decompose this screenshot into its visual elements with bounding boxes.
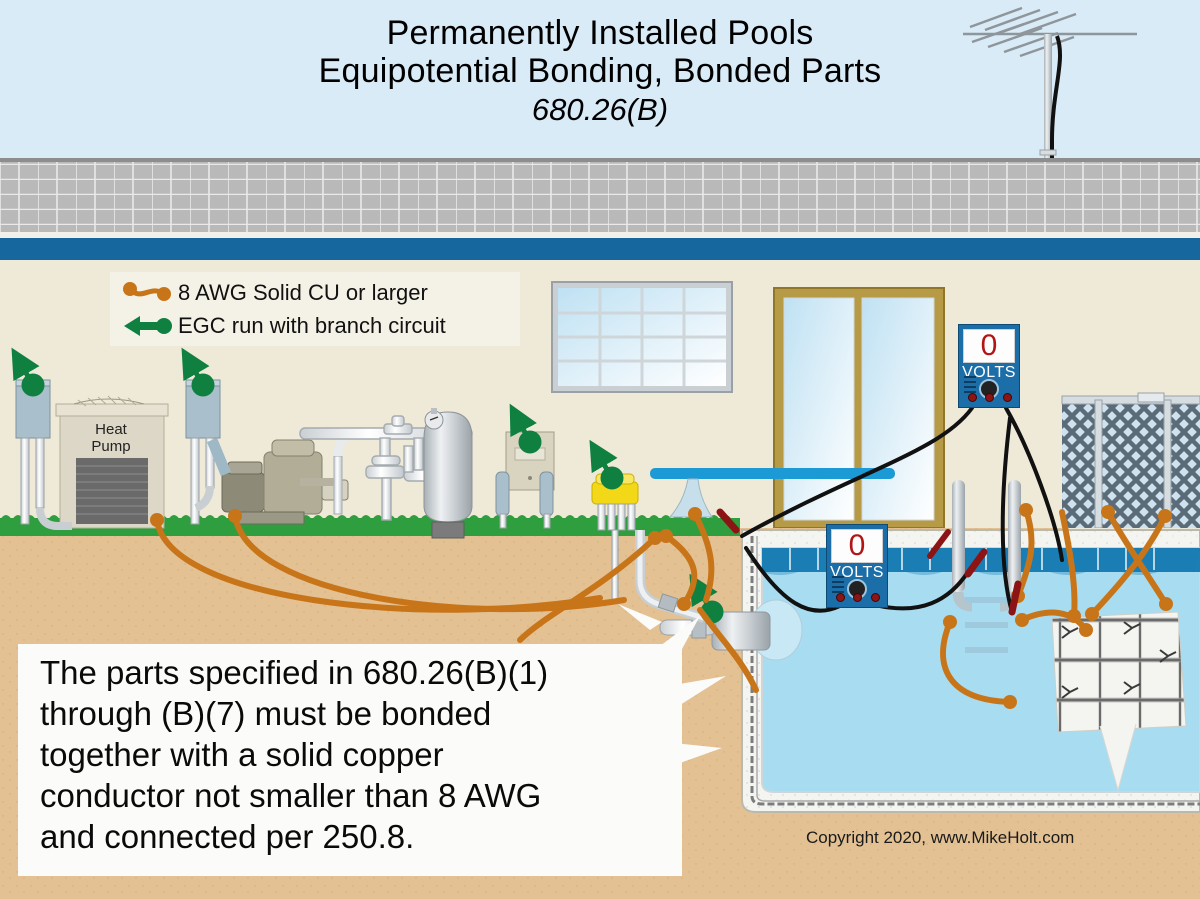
chain-link-fence <box>1062 393 1200 528</box>
lower-voltmeter[interactable]: 0 VOLTS <box>826 524 888 608</box>
lower-voltmeter-jacks[interactable] <box>827 593 887 603</box>
upper-voltmeter-value: 0 <box>981 331 998 361</box>
legend-label-bond-conductor: 8 AWG Solid CU or larger <box>174 280 428 306</box>
heat-pump-unit <box>56 396 168 528</box>
callout-text: The parts specified in 680.26(B)(1) thro… <box>40 652 680 857</box>
sliding-glass-door <box>774 288 944 528</box>
upper-voltmeter-display: 0 <box>963 329 1015 363</box>
legend: 8 AWG Solid CU or larger EGC run with br… <box>110 272 520 346</box>
lower-voltmeter-value: 0 <box>849 531 866 561</box>
bond-conductor-symbol-icon <box>120 280 174 306</box>
legend-label-egc: EGC run with branch circuit <box>174 313 446 339</box>
pool-filter-tank <box>424 408 472 538</box>
legend-item-bond-conductor: 8 AWG Solid CU or larger <box>120 276 512 309</box>
egc-arrow-symbol-icon <box>120 313 174 339</box>
requirement-callout: The parts specified in 680.26(B)(1) thro… <box>18 644 682 876</box>
legend-item-egc: EGC run with branch circuit <box>120 309 512 342</box>
upper-voltmeter[interactable]: 0 VOLTS <box>958 324 1020 408</box>
heat-pump-label: Heat Pump <box>63 421 159 455</box>
upper-voltmeter-jacks[interactable] <box>959 393 1019 403</box>
roof <box>0 160 1200 232</box>
roof-fascia <box>0 238 1200 260</box>
diagram-canvas: Permanently Installed Pools Equipotentia… <box>0 0 1200 899</box>
copyright-notice: Copyright 2020, www.MikeHolt.com <box>806 828 1074 848</box>
house-window <box>552 282 732 392</box>
lower-voltmeter-display: 0 <box>831 529 883 563</box>
